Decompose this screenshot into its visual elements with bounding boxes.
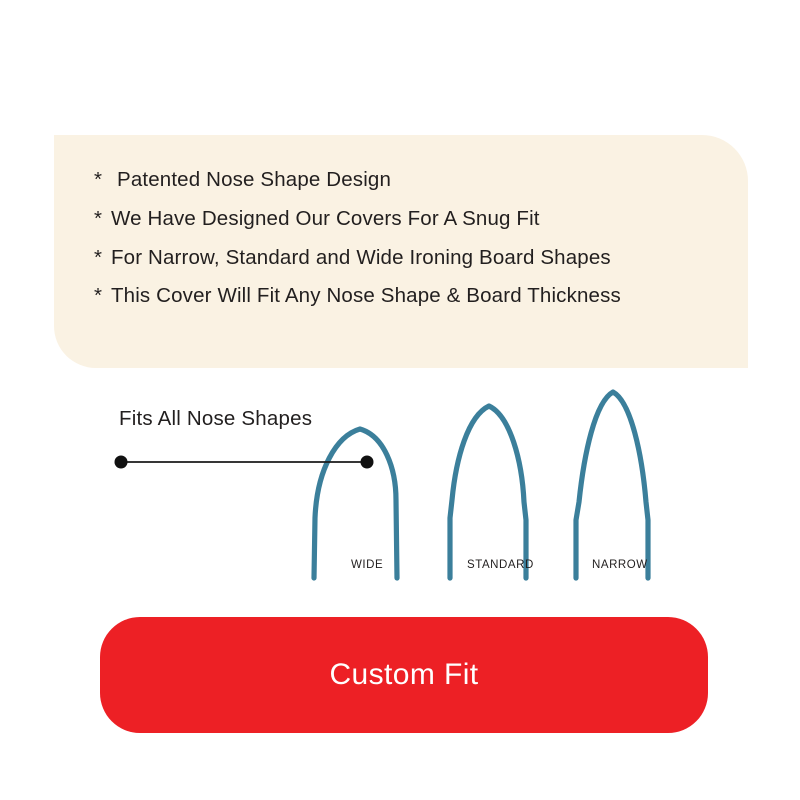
leader-line bbox=[115, 456, 374, 469]
list-item: * This Cover Will Fit Any Nose Shape & B… bbox=[94, 283, 734, 309]
shape-caption-wide: WIDE bbox=[351, 559, 383, 571]
list-item: * Patented Nose Shape Design bbox=[94, 167, 734, 193]
bullet-marker-icon: * bbox=[94, 167, 111, 193]
nose-shape-wide-icon bbox=[314, 429, 397, 578]
feature-bullet-list: * Patented Nose Shape Design * We Have D… bbox=[94, 167, 734, 309]
leader-end-dot bbox=[361, 456, 374, 469]
custom-fit-button[interactable]: Custom Fit bbox=[100, 617, 708, 733]
shape-caption-narrow: NARROW bbox=[592, 559, 648, 571]
bullet-text: Patented Nose Shape Design bbox=[117, 167, 391, 193]
bullet-marker-icon: * bbox=[94, 283, 111, 309]
nose-shape-narrow-icon bbox=[576, 392, 648, 578]
product-infographic: * Patented Nose Shape Design * We Have D… bbox=[0, 0, 800, 800]
bullet-text: This Cover Will Fit Any Nose Shape & Boa… bbox=[111, 283, 621, 309]
bullet-marker-icon: * bbox=[94, 245, 111, 271]
nose-shape-standard-icon bbox=[450, 406, 526, 578]
callout-label: Fits All Nose Shapes bbox=[119, 407, 312, 431]
list-item: * We Have Designed Our Covers For A Snug… bbox=[94, 206, 734, 232]
bullet-text: For Narrow, Standard and Wide Ironing Bo… bbox=[111, 245, 611, 271]
feature-panel: * Patented Nose Shape Design * We Have D… bbox=[54, 135, 748, 368]
shape-caption-standard: STANDARD bbox=[467, 559, 534, 571]
list-item: * For Narrow, Standard and Wide Ironing … bbox=[94, 245, 734, 271]
bullet-text: We Have Designed Our Covers For A Snug F… bbox=[111, 206, 540, 232]
leader-start-dot bbox=[115, 456, 128, 469]
bullet-marker-icon: * bbox=[94, 206, 111, 232]
